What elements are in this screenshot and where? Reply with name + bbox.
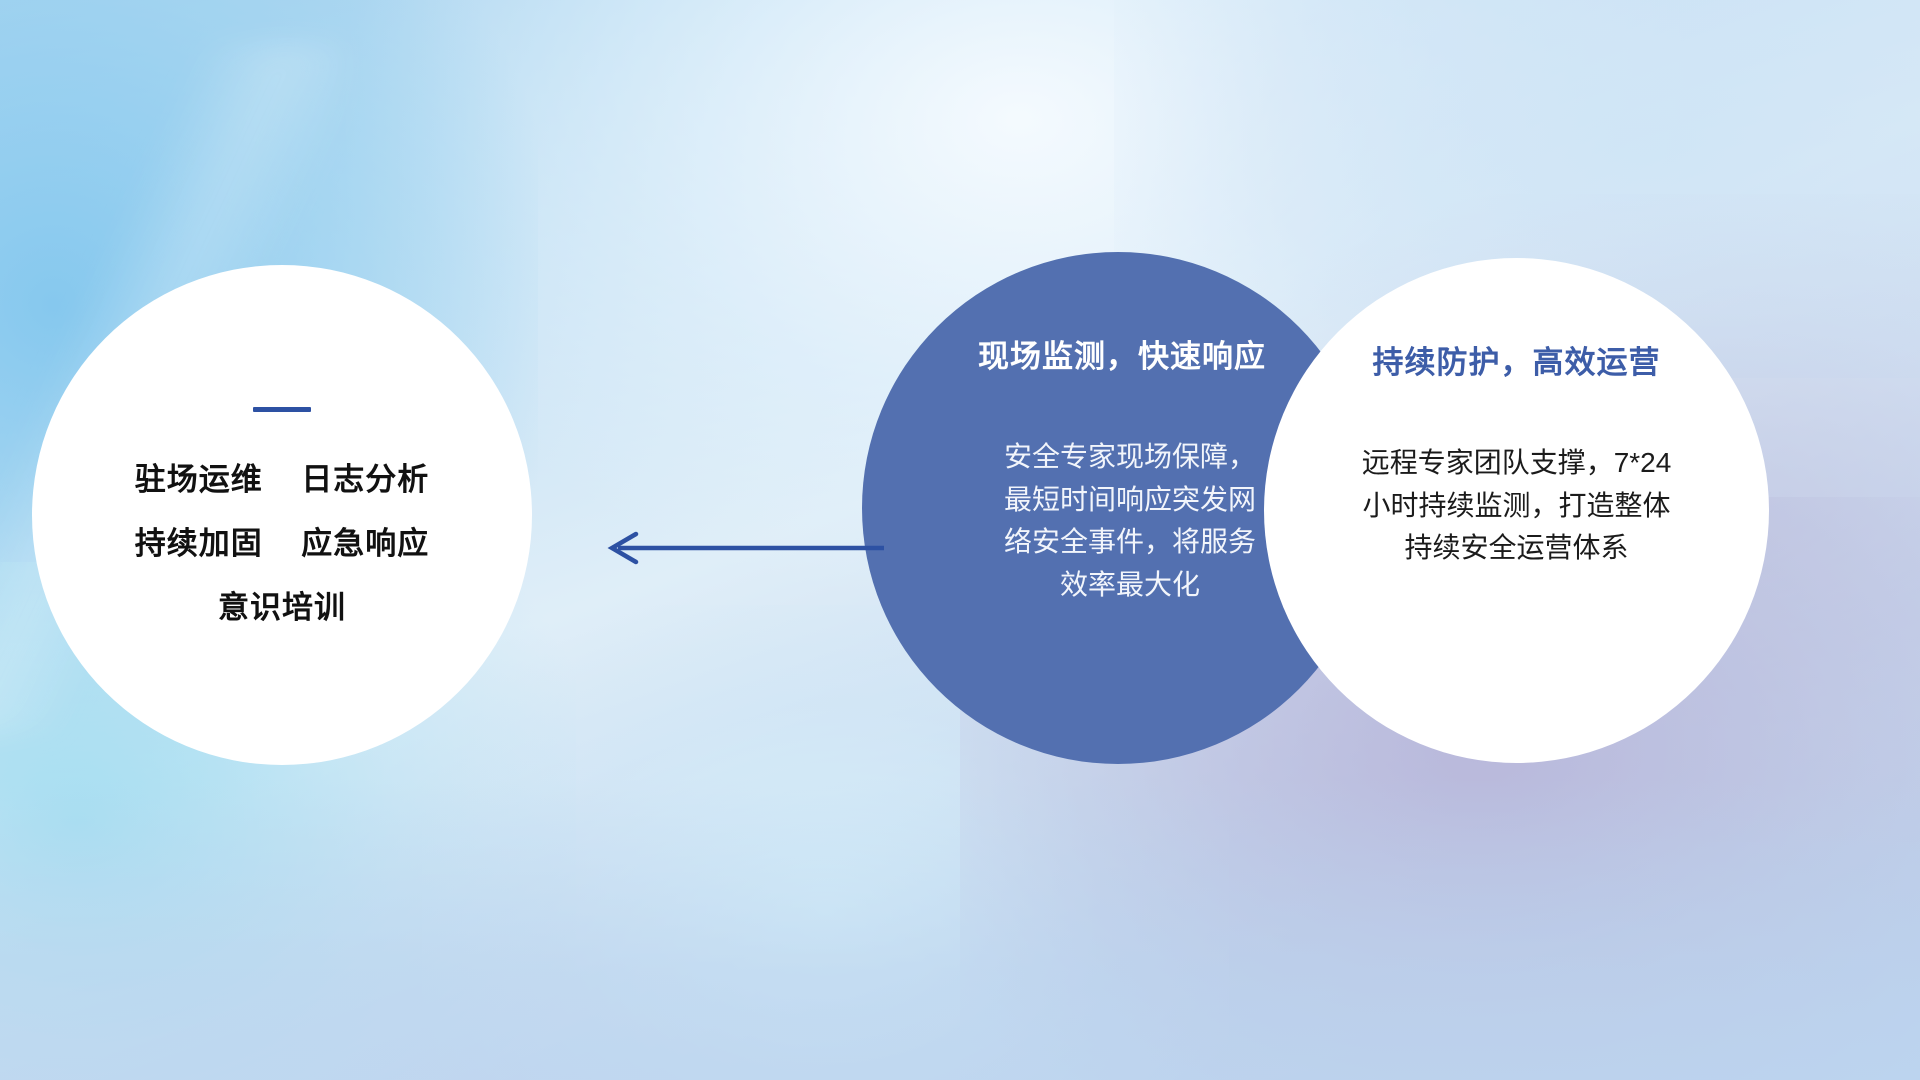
onsite-monitoring-body: 安全专家现场保障， 最短时间响应突发网 络安全事件，将服务 效率最大化 — [965, 436, 1295, 606]
capabilities-circle[interactable]: 驻场运维 日志分析 持续加固 应急响应 意识培训 — [32, 265, 532, 765]
flow-arrow-left-icon — [596, 530, 886, 566]
capabilities-list: 驻场运维 日志分析 持续加固 应急响应 意识培训 — [135, 464, 429, 623]
capability-line-2: 持续加固 应急响应 — [135, 528, 429, 559]
continuous-protection-circle[interactable]: 持续防护，高效运营 远程专家团队支撑，7*24 小时持续监测，打造整体 持续安全… — [1264, 258, 1769, 763]
continuous-protection-content: 持续防护，高效运营 远程专家团队支撑，7*24 小时持续监测，打造整体 持续安全… — [1264, 258, 1769, 763]
divider-dash — [253, 407, 311, 412]
capability-line-3: 意识培训 — [135, 592, 429, 623]
continuous-protection-title: 持续防护，高效运营 — [1373, 346, 1661, 380]
onsite-monitoring-title: 现场监测，快速响应 — [978, 340, 1266, 374]
diagram-stage: 驻场运维 日志分析 持续加固 应急响应 意识培训 现场监测，快速响应 安全专家现… — [0, 0, 1920, 1080]
continuous-protection-body: 远程专家团队支撑，7*24 小时持续监测，打造整体 持续安全运营体系 — [1321, 442, 1713, 570]
capability-line-1: 驻场运维 日志分析 — [135, 464, 429, 495]
